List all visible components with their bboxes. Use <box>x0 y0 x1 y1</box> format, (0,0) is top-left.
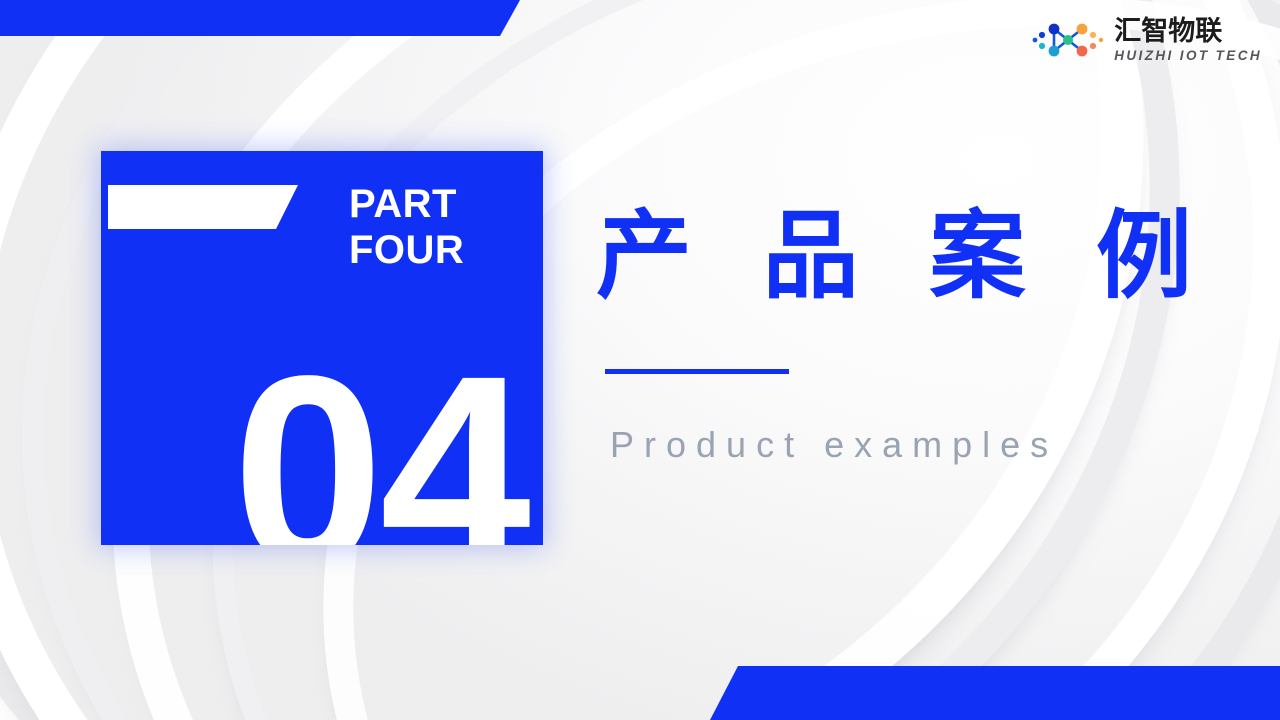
page-subtitle: Product examples <box>610 424 1058 466</box>
section-part-panel: PART FOUR 04 <box>101 151 543 545</box>
logo-name-cn: 汇智物联 <box>1114 18 1262 45</box>
logo-text-block: 汇智物联 HUIZHI IOT TECH <box>1114 18 1262 63</box>
part-label: PART FOUR <box>349 181 529 273</box>
slide-canvas: PART FOUR 04 产 品 案 例 Product examples <box>0 0 1280 720</box>
molecule-network-icon <box>1031 18 1105 62</box>
page-title: 产 品 案 例 <box>596 203 1214 311</box>
top-blue-banner <box>0 0 520 36</box>
part-number: 04 <box>101 335 527 545</box>
title-underline-rule <box>605 369 789 374</box>
bottom-blue-banner <box>710 666 1280 720</box>
white-parallelogram-accent <box>108 185 298 229</box>
logo-name-en: HUIZHI IOT TECH <box>1114 49 1262 63</box>
company-logo: 汇智物联 HUIZHI IOT TECH <box>1031 18 1262 63</box>
